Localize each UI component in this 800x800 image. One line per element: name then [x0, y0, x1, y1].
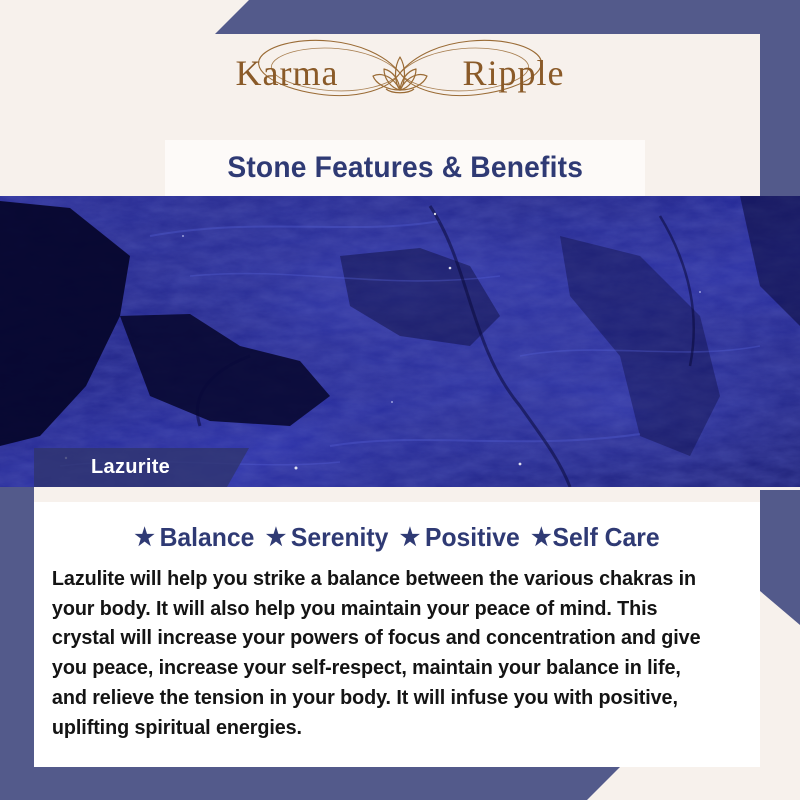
star-icon: ★	[266, 526, 286, 550]
benefit-item: ★ Balance	[134, 524, 254, 550]
benefit-label: Self Care	[553, 524, 660, 550]
stone-name-banner: Lazurite	[34, 448, 249, 487]
title-panel: Stone Features & Benefits	[165, 140, 645, 196]
benefit-label: Serenity	[291, 524, 388, 550]
benefit-item: ★ Positive	[388, 524, 519, 550]
stone-photo	[0, 196, 800, 487]
brand-logo-inner: Karma Ripple	[200, 36, 600, 110]
lotus-icon	[369, 48, 431, 98]
brand-name-left: Karma	[236, 55, 339, 91]
star-icon: ★	[400, 526, 420, 550]
benefit-item: ★ Serenity	[254, 524, 388, 550]
stone-description: Lazulite will help you strike a balance …	[50, 564, 720, 742]
page-title: Stone Features & Benefits	[227, 151, 583, 185]
star-icon: ★	[531, 526, 551, 550]
stone-info-card: Karma Ripple	[0, 0, 800, 800]
body-card: ★ Balance ★ Serenity ★ Positive ★ Self C…	[34, 502, 760, 767]
decorative-band-top	[215, 0, 800, 34]
star-icon: ★	[134, 526, 154, 550]
cream-divider-strip	[34, 487, 760, 502]
stone-name-label: Lazurite	[34, 456, 170, 479]
decorative-band-bottom	[0, 767, 620, 800]
decorative-band-right-lower	[760, 490, 800, 625]
brand-name-right: Ripple	[462, 55, 564, 91]
benefit-label: Balance	[160, 524, 255, 550]
benefits-row: ★ Balance ★ Serenity ★ Positive ★ Self C…	[67, 524, 726, 550]
decorative-band-left	[0, 487, 34, 800]
brand-logo: Karma Ripple	[0, 36, 800, 110]
benefit-item: ★ Self Care	[520, 524, 660, 550]
benefit-label: Positive	[425, 524, 520, 550]
